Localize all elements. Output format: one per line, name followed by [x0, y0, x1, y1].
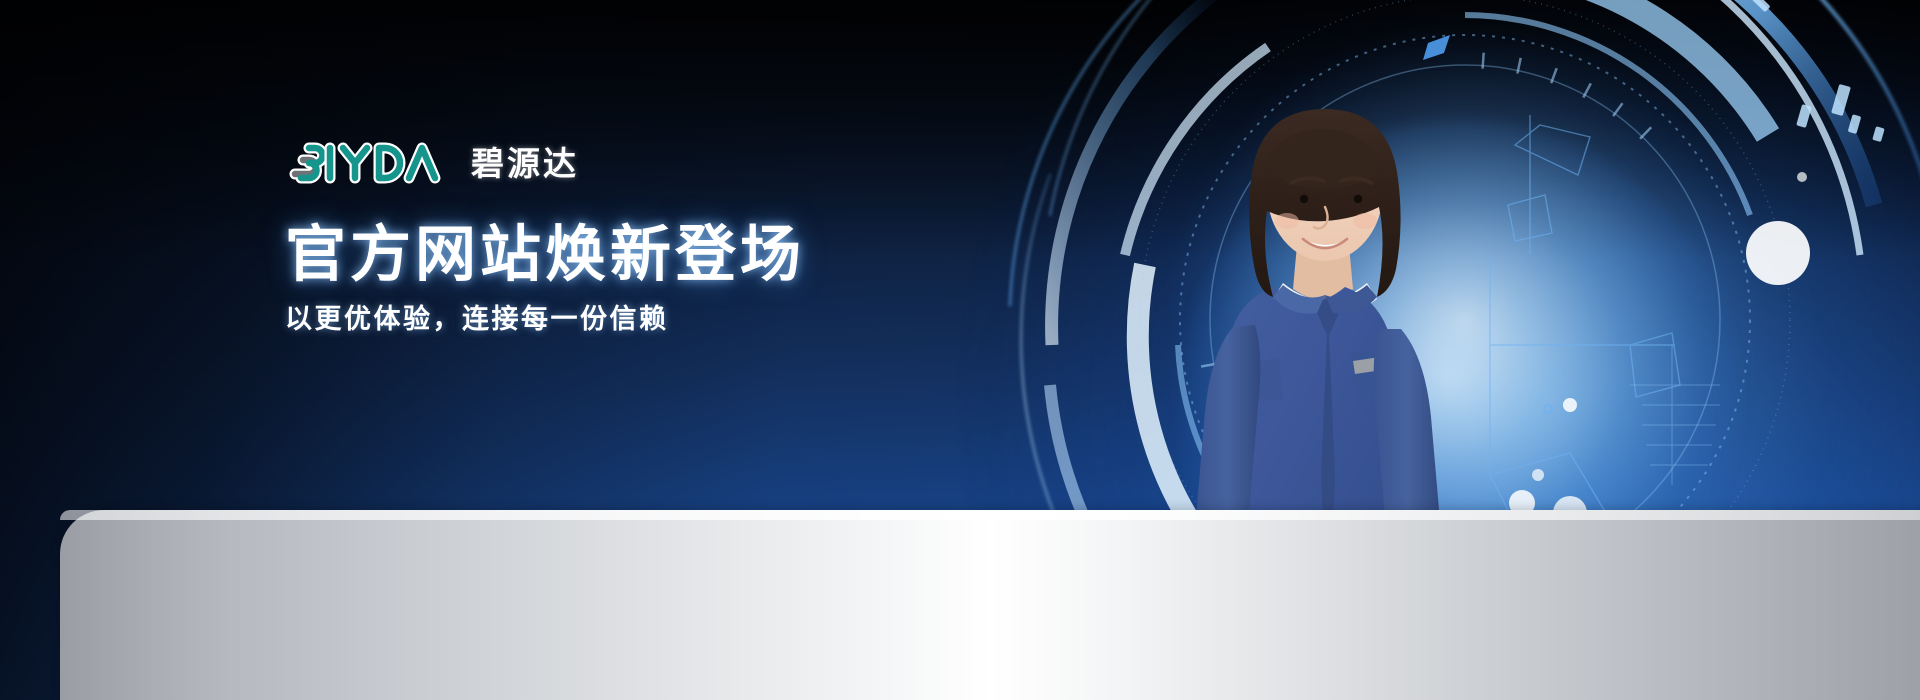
hero-banner: 碧源达 官方网站焕新登场 以更优体验，连接每一份信赖 — [0, 0, 1920, 700]
page-title: 官方网站焕新登场 — [285, 222, 1045, 288]
silver-bottom-panel — [60, 510, 1920, 700]
brand-name-cn: 碧源达 — [471, 147, 579, 180]
biyda-logo-mark — [285, 140, 457, 186]
page-subtitle: 以更优体验，连接每一份信赖 — [285, 302, 1045, 337]
hero-content: 碧源达 官方网站焕新登场 以更优体验，连接每一份信赖 — [285, 140, 1045, 337]
brand-logo[interactable]: 碧源达 — [285, 140, 1045, 186]
